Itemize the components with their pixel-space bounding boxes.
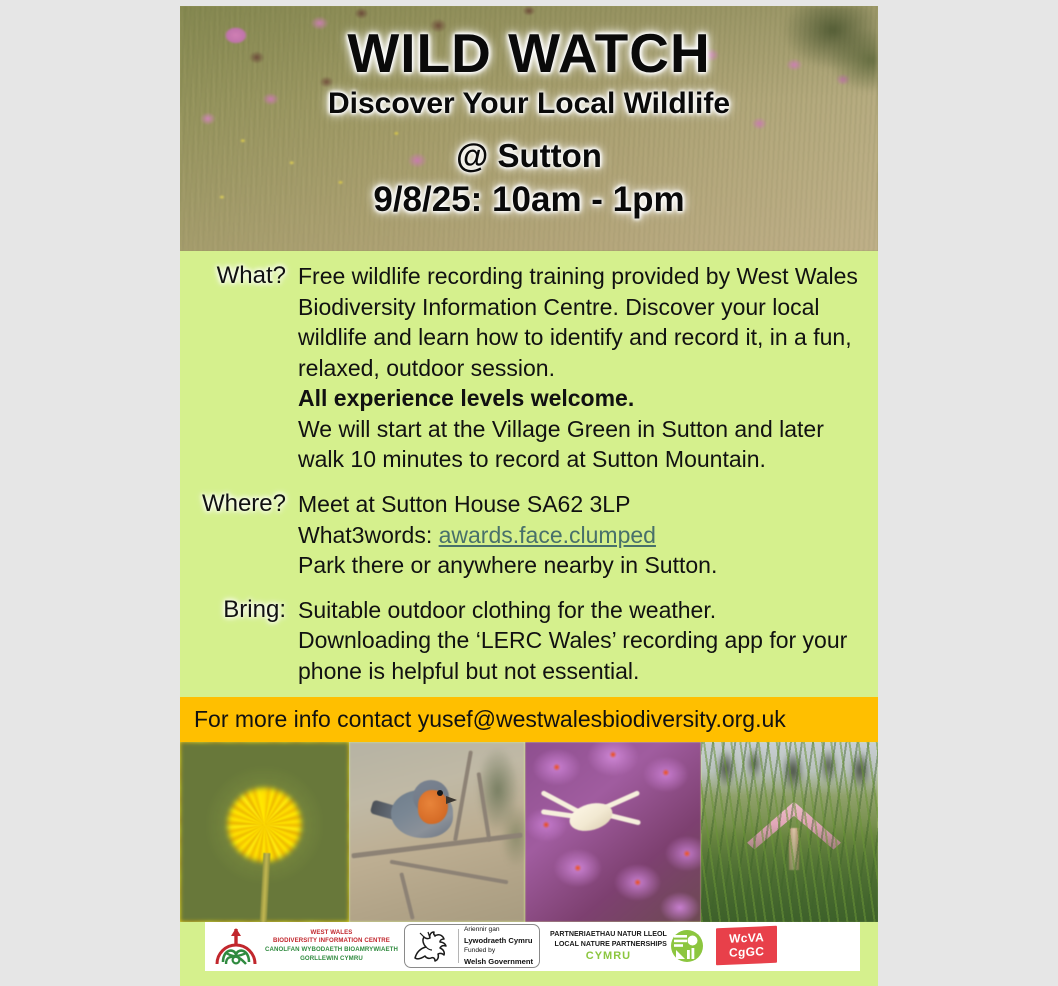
where-body: Meet at Sutton House SA62 3LP What3words… — [298, 489, 864, 581]
event-datetime-heading: 9/8/25: 10am - 1pm — [180, 181, 878, 220]
robin-on-branch-photo — [349, 742, 525, 922]
wwbic-line-3: CANOLFAN WYBODAETH BIOAMRYWIAETH — [265, 946, 398, 955]
detail-row-what: What? Free wildlife recording training p… — [194, 261, 864, 475]
what-body: Free wildlife recording training provide… — [298, 261, 864, 475]
wcva-logo: WcVA CgGC — [716, 922, 777, 971]
wwbic-line-2: BIODIVERSITY INFORMATION CENTRE — [265, 937, 398, 946]
lnp-sun-leaf-icon — [670, 929, 704, 963]
wcva-line-2: CgGC — [729, 945, 764, 961]
where-label: Where? — [194, 489, 298, 520]
robin-breast — [418, 790, 448, 824]
lnp-line-2: LOCAL NATURE PARTNERSHIPS — [550, 940, 667, 950]
wwbic-logo-text: WEST WALES BIODIVERSITY INFORMATION CENT… — [265, 929, 398, 964]
robin-beak — [446, 796, 457, 804]
bring-label: Bring: — [194, 595, 298, 626]
wg-line-3: Funded by — [464, 946, 533, 956]
lnp-line-1: PARTNERIAETHAU NATUR LLEOL — [550, 930, 667, 940]
buddleia-with-crab-spider-photo — [525, 742, 701, 922]
photo-strip — [180, 742, 878, 922]
event-location-heading: @ Sutton — [180, 138, 878, 174]
logo-strip: WEST WALES BIODIVERSITY INFORMATION CENT… — [205, 922, 860, 971]
what-paragraph-3: We will start at the Village Green in Su… — [298, 414, 864, 475]
poster-title: WILD WATCH — [180, 24, 878, 83]
wg-line-4: Welsh Government — [464, 956, 533, 967]
details-section: What? Free wildlife recording training p… — [180, 251, 878, 697]
wild-watch-poster: WILD WATCH Discover Your Local Wildlife … — [180, 6, 878, 986]
wwbic-line-4: GORLLEWIN CYMRU — [265, 955, 398, 964]
lnp-text-block: PARTNERIAETHAU NATUR LLEOL LOCAL NATURE … — [550, 930, 667, 962]
wg-line-2: Lywodraeth Cymru — [464, 935, 533, 946]
what3words-label: What3words: — [298, 522, 439, 548]
lnp-line-3: CYMRU — [550, 950, 667, 962]
welsh-government-logo: Ariennir gan Lywodraeth Cymru Funded by … — [404, 924, 540, 968]
bring-paragraph-1: Suitable outdoor clothing for the weathe… — [298, 595, 864, 626]
what-paragraph-1: Free wildlife recording training provide… — [298, 261, 864, 383]
where-parking: Park there or anywhere nearby in Sutton. — [298, 550, 864, 581]
where-what3words-line: What3words: awards.face.clumped — [298, 520, 864, 551]
wcva-badge: WcVA CgGC — [716, 926, 777, 966]
footer-logo-band: WEST WALES BIODIVERSITY INFORMATION CENT… — [180, 922, 878, 971]
what3words-link[interactable]: awards.face.clumped — [439, 522, 656, 548]
what-label: What? — [194, 261, 298, 292]
what-paragraph-2: All experience levels welcome. — [298, 383, 864, 414]
bring-paragraph-2: Downloading the ‘LERC Wales’ recording a… — [298, 625, 864, 686]
hero-text-block: WILD WATCH Discover Your Local Wildlife … — [180, 6, 878, 251]
hero-banner: WILD WATCH Discover Your Local Wildlife … — [180, 6, 878, 251]
wwbic-celtic-knot-icon — [213, 926, 259, 966]
poster-subtitle: Discover Your Local Wildlife — [180, 87, 878, 120]
where-address: Meet at Sutton House SA62 3LP — [298, 489, 864, 520]
local-nature-partnerships-logo: PARTNERIAETHAU NATUR LLEOL LOCAL NATURE … — [550, 922, 704, 971]
dandelion-flower-photo — [180, 742, 349, 922]
contact-banner: For more info contact yusef@westwalesbio… — [180, 697, 878, 742]
pink-waxcap-mushroom-photo — [701, 742, 878, 922]
welsh-dragon-icon — [409, 927, 453, 965]
welsh-government-text: Ariennir gan Lywodraeth Cymru Funded by … — [464, 925, 533, 968]
wwbic-logo: WEST WALES BIODIVERSITY INFORMATION CENT… — [209, 922, 398, 971]
contact-text: For more info contact yusef@westwalesbio… — [194, 706, 786, 733]
wwbic-line-1: WEST WALES — [265, 929, 398, 938]
detail-row-where: Where? Meet at Sutton House SA62 3LP Wha… — [194, 489, 864, 581]
robin-eye — [437, 790, 443, 796]
wg-line-1: Ariennir gan — [464, 925, 533, 935]
bring-body: Suitable outdoor clothing for the weathe… — [298, 595, 864, 687]
detail-row-bring: Bring: Suitable outdoor clothing for the… — [194, 595, 864, 687]
